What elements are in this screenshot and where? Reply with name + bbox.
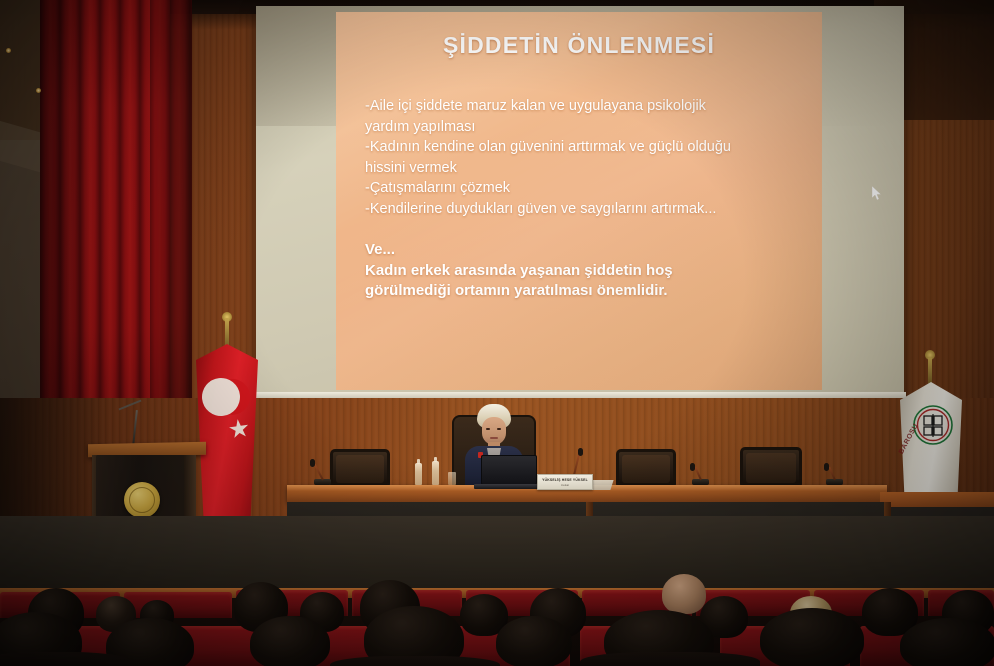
conference-hall-scene: ŞİDDETİN ÖNLENMESİ -Aile içi şiddete mar… xyxy=(0,0,994,666)
slide-bullet-line: -Kendilerine duydukları güven ve saygıla… xyxy=(365,199,795,220)
audience-shoulders xyxy=(0,652,130,666)
water-bottle-2 xyxy=(432,461,439,485)
laptop-keyboard-base xyxy=(474,484,544,489)
lectern-seal-ring xyxy=(129,487,155,513)
microphone-head-3 xyxy=(690,463,695,471)
audience-head-bald xyxy=(662,574,706,614)
microphone-head-1 xyxy=(310,459,315,467)
chair-back-cushion xyxy=(746,453,796,483)
audience-head-front xyxy=(250,616,330,666)
slide-closing-line: Ve... xyxy=(365,240,795,261)
panel-chair-right-2 xyxy=(740,447,802,489)
audience-shoulders xyxy=(580,652,760,666)
slide-bullet-line: -Kadının kendine olan güvenini arttırmak… xyxy=(365,137,795,158)
speaker-mouth xyxy=(490,437,498,439)
slide-closing-line: Kadın erkek arasında yaşanan şiddetin ho… xyxy=(365,261,795,282)
slide-closing-text: Ve... Kadın erkek arasında yaşanan şidde… xyxy=(365,240,795,302)
panel-chair-left xyxy=(330,449,390,489)
chair-back-cushion xyxy=(336,455,384,483)
slide-bullet-line: -Çatışmalarını çözmek xyxy=(365,178,795,199)
audience-head-front xyxy=(496,616,572,666)
slide-title: ŞİDDETİN ÖNLENMESİ xyxy=(336,32,822,59)
audience-head-front xyxy=(760,608,864,666)
water-bottle-1 xyxy=(415,463,422,485)
slide-closing-line: görülmediği ortamın yaratılması önemlidi… xyxy=(365,281,795,302)
laptop-screen xyxy=(481,455,537,485)
wall-light-upper xyxy=(6,48,11,53)
speaker-eye-right xyxy=(497,428,501,430)
nameplate-name: YÜKSELİŞ HESE YÜKSEL xyxy=(538,478,592,482)
slide-bullet-line: yardım yapılması xyxy=(365,117,795,138)
audience-shoulders xyxy=(330,656,500,666)
lectern-gold-seal-icon xyxy=(124,482,160,518)
nameplate-title: Avukat xyxy=(538,484,592,487)
audience-head-front xyxy=(900,618,994,666)
slide-bullet-line: -Aile içi şiddete maruz kalan ve uygulay… xyxy=(365,96,795,117)
wall-light-lower xyxy=(36,88,41,93)
slide-bullet-line: hissini vermek xyxy=(365,158,795,179)
microphone-head-2 xyxy=(578,448,583,456)
panel-table-top-right-section xyxy=(880,492,994,507)
chair-back-cushion xyxy=(622,455,670,483)
stage-front-panel xyxy=(0,516,994,590)
panel-chair-right-1 xyxy=(616,449,676,489)
speaker-eye-left xyxy=(486,428,490,430)
speaker-face xyxy=(482,417,506,445)
mouse-cursor-icon xyxy=(872,186,882,201)
microphone-head-4 xyxy=(824,463,829,471)
slide-bullet-list: -Aile içi şiddete maruz kalan ve uygulay… xyxy=(365,96,795,219)
presentation-slide: ŞİDDETİN ÖNLENMESİ -Aile içi şiddete mar… xyxy=(336,12,822,390)
projection-screen: ŞİDDETİN ÖNLENMESİ -Aile içi şiddete mar… xyxy=(256,6,904,402)
drinking-glass xyxy=(448,472,456,485)
speaker-nameplate: YÜKSELİŞ HESE YÜKSEL Avukat xyxy=(537,474,593,490)
